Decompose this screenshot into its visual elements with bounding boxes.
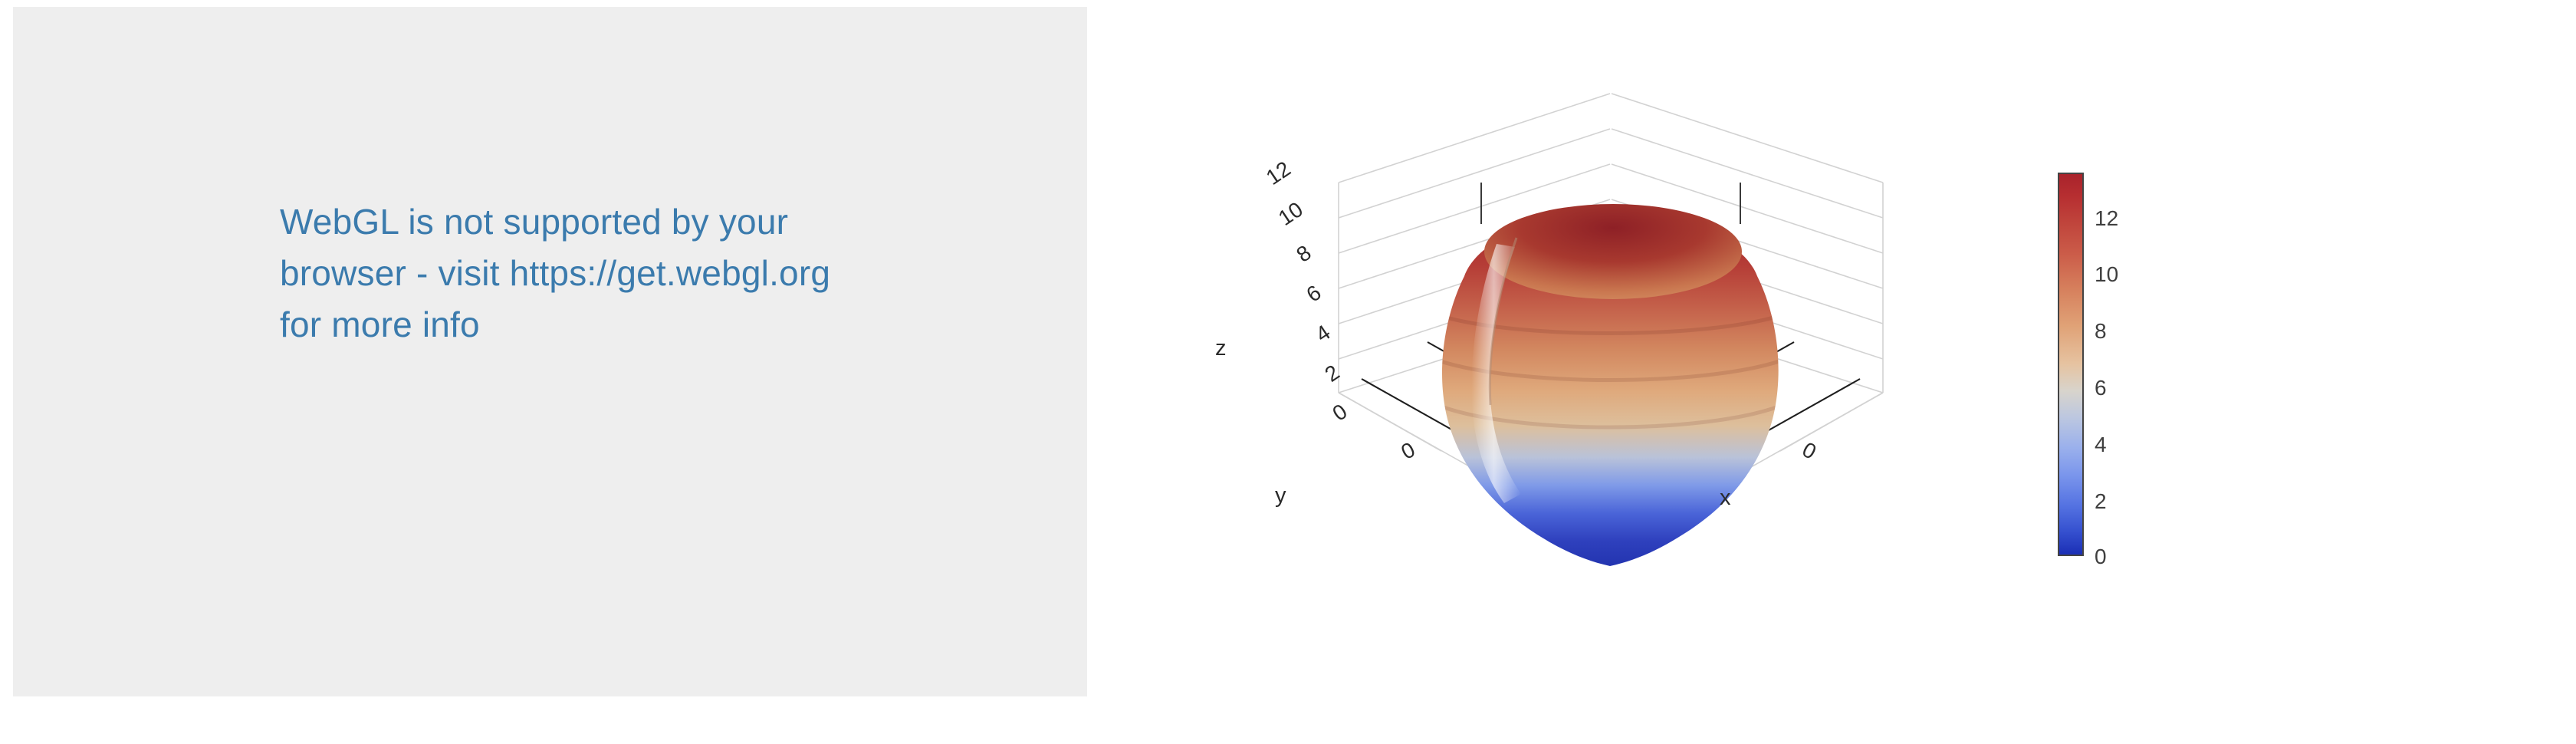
webgl-unsupported-panel: WebGL is not supported by your browser -… xyxy=(13,7,1087,696)
z-axis-title: z xyxy=(1215,336,1227,361)
webgl-unsupported-message: WebGL is not supported by your browser -… xyxy=(280,196,839,351)
surface-3d-mesh[interactable] xyxy=(1438,204,1782,566)
plotly-3d-surface-figure[interactable]: 12 10 8 6 4 2 0 0 0 z y x 12 10 8 6 4 2 … xyxy=(1089,0,2576,744)
surface-inner-bowl xyxy=(1484,204,1742,299)
colorbar-tick-0: 0 xyxy=(2095,545,2107,569)
y-axis-title: y xyxy=(1275,483,1286,509)
colorbar[interactable]: 12 10 8 6 4 2 0 xyxy=(2058,166,2211,565)
scene-3d-axes[interactable]: 12 10 8 6 4 2 0 0 0 z y x xyxy=(1211,46,2024,652)
colorbar-tick-8: 8 xyxy=(2095,319,2107,344)
colorbar-gradient[interactable] xyxy=(2058,173,2084,556)
colorbar-tick-6: 6 xyxy=(2095,376,2107,400)
colorbar-tick-2: 2 xyxy=(2095,489,2107,514)
scene-3d-canvas[interactable] xyxy=(1211,46,2024,652)
colorbar-tick-10: 10 xyxy=(2095,262,2118,287)
colorbar-tick-12: 12 xyxy=(2095,206,2118,231)
x-axis-title: x xyxy=(1720,486,1731,511)
colorbar-tick-4: 4 xyxy=(2095,433,2107,457)
